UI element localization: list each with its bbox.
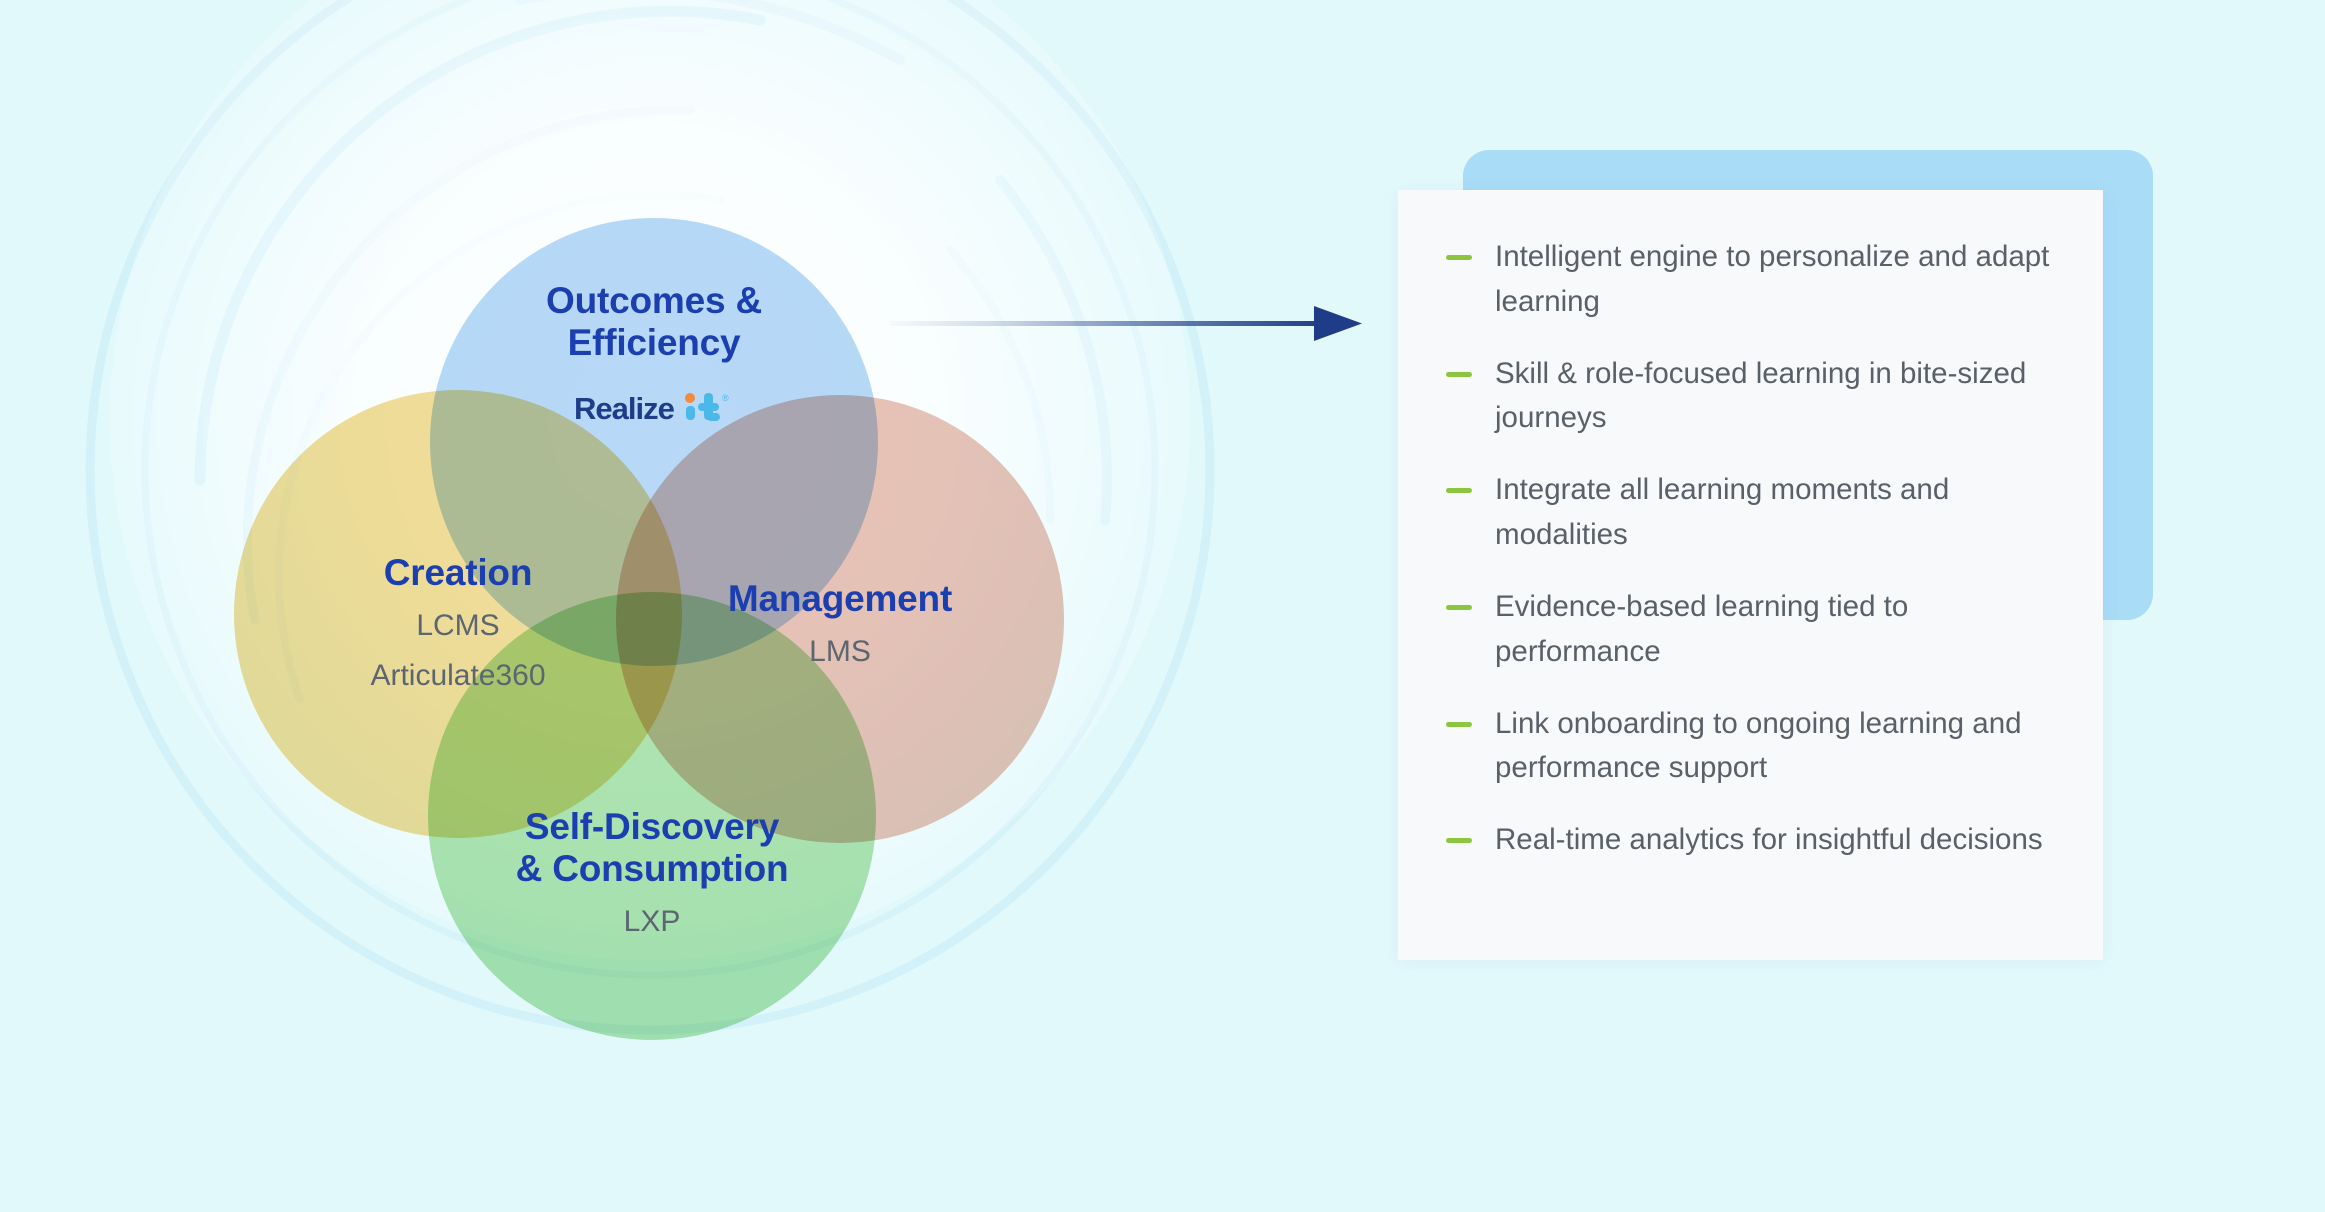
list-item-label: Integrate all learning moments and modal… (1495, 468, 2055, 558)
venn-sublabel-management-lms: LMS (616, 634, 1064, 670)
list-item[interactable]: Skill & role-focused learning in bite-si… (1446, 352, 2066, 442)
feature-bullet-list: Intelligent engine to personalize and ad… (1446, 235, 2066, 890)
realizeit-logo: Realize ® (430, 386, 878, 432)
dash-bullet-icon (1446, 372, 1472, 377)
venn-sublabel-creation-lcms: LCMS (234, 608, 682, 644)
realizeit-t-bar-icon (698, 403, 719, 411)
dash-bullet-icon (1446, 722, 1472, 727)
dash-bullet-icon (1446, 488, 1472, 493)
realizeit-wordmark: Realize (574, 391, 675, 426)
list-item-label: Intelligent engine to personalize and ad… (1495, 235, 2055, 325)
list-item-label: Skill & role-focused learning in bite-si… (1495, 352, 2055, 442)
list-item[interactable]: Evidence-based learning tied to performa… (1446, 585, 2066, 675)
dash-bullet-icon (1446, 255, 1472, 260)
list-item-label: Link onboarding to ongoing learning and … (1495, 702, 2055, 792)
realizeit-i-dot-icon (685, 393, 695, 403)
connector-arrow-icon (890, 290, 1370, 360)
dash-bullet-icon (1446, 838, 1472, 843)
list-item-label: Evidence-based learning tied to performa… (1495, 585, 2055, 675)
venn-label-outcomes-line2: Efficiency (568, 322, 741, 363)
venn-label-outcomes-line1: Outcomes & (546, 280, 762, 321)
realizeit-registered-mark: ® (722, 393, 729, 403)
dash-bullet-icon (1446, 605, 1472, 610)
venn-label-discovery-line1: Self-Discovery (525, 806, 779, 847)
venn-label-discovery: Self-Discovery & Consumption LXP (428, 806, 876, 940)
venn-sublabel-discovery-lxp: LXP (428, 904, 876, 940)
panel-content-card: Intelligent engine to personalize and ad… (1398, 190, 2103, 960)
list-item[interactable]: Real-time analytics for insightful decis… (1446, 818, 2066, 863)
venn-label-management: Management LMS (616, 578, 1064, 670)
list-item[interactable]: Integrate all learning moments and modal… (1446, 468, 2066, 558)
venn-diagram: Outcomes & Efficiency Realize ® Creation… (0, 0, 1200, 1212)
realizeit-i-stem-icon (686, 406, 695, 420)
realizeit-t-foot-icon (707, 413, 720, 421)
feature-panel: Intelligent engine to personalize and ad… (1398, 140, 2158, 1040)
list-item[interactable]: Link onboarding to ongoing learning and … (1446, 702, 2066, 792)
venn-label-management-title: Management (728, 578, 952, 619)
venn-label-discovery-line2: & Consumption (516, 848, 789, 889)
venn-sublabel-creation-articulate: Articulate360 (234, 658, 682, 694)
venn-label-outcomes: Outcomes & Efficiency (430, 280, 878, 364)
venn-label-creation-title: Creation (384, 552, 532, 593)
realizeit-logo-mark: Realize ® (574, 387, 734, 431)
list-item-label: Real-time analytics for insightful decis… (1495, 818, 2043, 863)
venn-label-creation: Creation LCMS Articulate360 (234, 552, 682, 694)
list-item[interactable]: Intelligent engine to personalize and ad… (1446, 235, 2066, 325)
